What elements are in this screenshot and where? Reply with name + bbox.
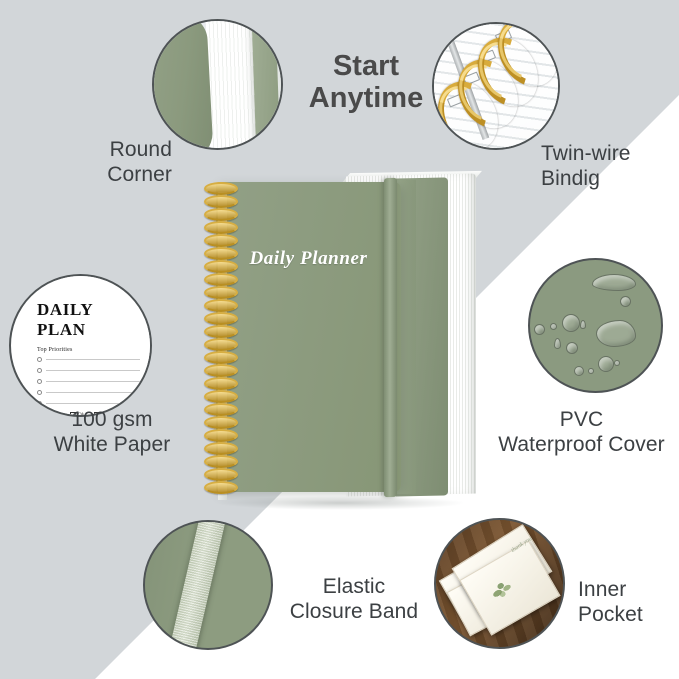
water-droplet bbox=[598, 356, 614, 372]
coil-ring-icon bbox=[204, 182, 238, 195]
coil-ring-icon bbox=[204, 338, 238, 351]
daily-plan-row bbox=[37, 390, 140, 395]
daily-plan-row bbox=[37, 357, 140, 362]
coil-ring-icon bbox=[204, 221, 238, 234]
write-line bbox=[46, 392, 140, 393]
write-line bbox=[46, 370, 140, 371]
coil-ring-icon bbox=[204, 260, 238, 273]
water-droplet bbox=[620, 296, 631, 307]
write-line bbox=[46, 403, 140, 404]
coil-ring-icon bbox=[204, 312, 238, 325]
book-front-cover: Daily Planner bbox=[216, 182, 401, 492]
water-droplet bbox=[534, 324, 545, 335]
callout-round-corner bbox=[152, 19, 283, 150]
book-elastic-band bbox=[384, 178, 397, 497]
callout-pvc-waterproof-cover bbox=[528, 258, 663, 393]
coil-ring-icon bbox=[204, 351, 238, 364]
round-corner-front-cover bbox=[152, 19, 214, 150]
coil-ring-icon bbox=[204, 208, 238, 221]
coil-ring-icon bbox=[204, 429, 238, 442]
coil-ring-icon bbox=[204, 195, 238, 208]
coil-ring-icon bbox=[204, 390, 238, 403]
coil-ring-icon bbox=[204, 442, 238, 455]
bullet-icon bbox=[37, 401, 42, 406]
feature-label-round-corner: Round Corner bbox=[24, 138, 172, 188]
daily-plan-subtitle: Top Priorities bbox=[37, 347, 140, 353]
coil-ring-icon bbox=[204, 416, 238, 429]
write-line bbox=[46, 381, 140, 382]
daily-plan-row bbox=[37, 368, 140, 373]
coil-ring-icon bbox=[204, 299, 238, 312]
daily-plan-title: DAILY PLAN bbox=[37, 300, 140, 340]
daily-plan-row bbox=[37, 401, 140, 406]
bullet-icon bbox=[37, 368, 42, 373]
water-droplet bbox=[554, 338, 561, 349]
coil-ring-icon bbox=[204, 247, 238, 260]
coil-ring-icon bbox=[204, 234, 238, 247]
coil-ring-icon bbox=[204, 468, 238, 481]
water-droplet bbox=[588, 368, 594, 374]
coil-ring-icon bbox=[204, 403, 238, 416]
book-spiral-binding bbox=[204, 182, 238, 494]
coil-ring-icon bbox=[204, 286, 238, 299]
coil-ring-icon bbox=[204, 273, 238, 286]
product-daily-planner: Daily Planner bbox=[196, 170, 486, 510]
bullet-icon bbox=[37, 357, 42, 362]
daily-plan-row bbox=[37, 379, 140, 384]
water-droplet bbox=[614, 360, 620, 366]
coil-ring-icon bbox=[204, 377, 238, 390]
headline-start-anytime: Start Anytime bbox=[292, 50, 440, 115]
water-droplet-large bbox=[596, 320, 636, 347]
round-corner-pages bbox=[205, 19, 256, 150]
infographic-canvas: Round Corner Start Anytime Twin-wire Bin… bbox=[0, 0, 679, 679]
feature-label-pvc-waterproof-cover: PVC Waterproof Cover bbox=[484, 408, 679, 458]
callout-elastic-closure-band bbox=[143, 520, 273, 650]
planner-page-icon: DAILY PLAN Top Priorities To Do List Ok … bbox=[23, 276, 150, 415]
water-droplet bbox=[580, 320, 586, 329]
book-shadow bbox=[216, 496, 466, 510]
callout-white-paper: DAILY PLAN Top Priorities To Do List Ok … bbox=[9, 274, 152, 417]
feature-label-white-paper: 100 gsm White Paper bbox=[22, 408, 202, 458]
water-droplets-icon bbox=[592, 274, 636, 291]
feature-label-twin-wire-binding: Twin-wire Bindig bbox=[541, 142, 679, 192]
bullet-icon bbox=[37, 379, 42, 384]
feature-label-elastic-closure-band: Elastic Closure Band bbox=[263, 575, 445, 625]
coil-ring-icon bbox=[204, 481, 238, 494]
water-droplet bbox=[562, 314, 580, 332]
product-title: Daily Planner bbox=[216, 248, 401, 270]
bullet-icon bbox=[37, 390, 42, 395]
callout-inner-pocket: thank you bbox=[434, 518, 565, 649]
coil-ring-icon bbox=[204, 325, 238, 338]
water-droplet bbox=[574, 366, 584, 376]
coil-ring-icon bbox=[204, 364, 238, 377]
water-droplet bbox=[550, 323, 557, 330]
feature-label-inner-pocket: Inner Pocket bbox=[578, 578, 678, 628]
coil-ring-icon bbox=[204, 455, 238, 468]
water-droplet bbox=[566, 342, 578, 354]
write-line bbox=[46, 359, 140, 360]
callout-twin-wire-binding bbox=[432, 22, 560, 150]
